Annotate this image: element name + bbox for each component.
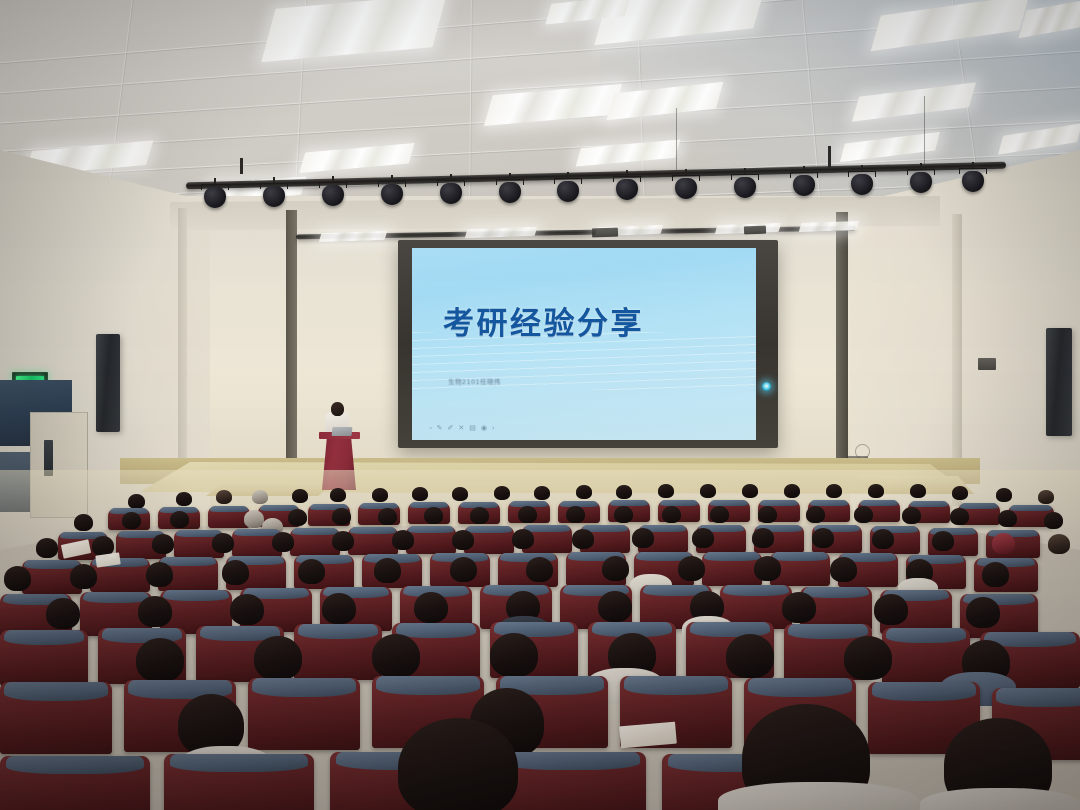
audience-head (452, 530, 474, 550)
audience-head (844, 636, 892, 680)
audience-head (758, 506, 777, 523)
audience-shoulder (920, 788, 1080, 810)
highlighter-icon[interactable]: ✐ (448, 425, 454, 432)
audience-head (176, 492, 192, 506)
screen-power-led (762, 382, 771, 391)
audience-head (152, 534, 174, 554)
audience-head (298, 559, 325, 584)
audience-head (726, 634, 774, 678)
audience-head (170, 511, 189, 528)
seat-foreground (164, 754, 314, 810)
seat (0, 630, 88, 686)
audience-head (966, 597, 1000, 628)
audience-head (602, 556, 629, 581)
slide-toolbar[interactable]: ▫ ✎ ✐ ✕ ▤ ◉ › (429, 425, 494, 432)
seat (348, 527, 398, 555)
seat (248, 678, 360, 750)
audience-head (526, 557, 553, 582)
seat (702, 552, 762, 586)
audience-head (138, 596, 172, 627)
audience-head (212, 533, 234, 553)
audience-head (806, 506, 825, 523)
audience-head (70, 564, 97, 589)
audience-head (614, 506, 633, 523)
audience-head (254, 636, 302, 680)
audience-head (566, 506, 585, 523)
audience-head (1048, 534, 1070, 554)
audience-head (1038, 490, 1054, 504)
audience-head (754, 556, 781, 581)
stage-fixture (744, 226, 766, 235)
audience-head (46, 598, 80, 629)
cursor-icon[interactable]: ▫ (429, 425, 431, 432)
audience-head (292, 489, 308, 503)
stage-pillar-right (836, 212, 848, 464)
laser-icon[interactable]: ◉ (481, 425, 487, 432)
audience-head (378, 508, 397, 525)
audience-head (146, 562, 173, 587)
audience-head (576, 485, 592, 499)
audience-head (982, 562, 1009, 587)
slide-subtitle: 生物2101任晓伟 (448, 376, 501, 386)
audience-head (932, 531, 954, 551)
projection-screen: 考研经验分享 生物2101任晓伟 ▫ ✎ ✐ ✕ ▤ ◉ › (412, 248, 756, 440)
audience-head (692, 528, 714, 548)
stage-pillar-left (286, 210, 297, 458)
more-icon[interactable]: › (492, 425, 494, 432)
audience-head (136, 638, 184, 682)
truss-support-wire (924, 96, 925, 166)
audience-head (658, 484, 674, 498)
audience-seating (0, 470, 1080, 810)
audience-head (494, 486, 510, 500)
audience-head (950, 508, 969, 525)
audience-head (452, 487, 468, 501)
audience-head (534, 486, 550, 500)
lecture-hall-photo: 考研经验分享 生物2101任晓伟 ▫ ✎ ✐ ✕ ▤ ◉ › (0, 0, 1080, 810)
audience-head (36, 538, 58, 558)
audience-head (632, 528, 654, 548)
audience-head (784, 484, 800, 498)
seat-foreground (496, 752, 646, 810)
truss-drop-rod (828, 146, 831, 168)
audience-head (1044, 512, 1063, 529)
audience-head (782, 592, 816, 623)
audience-head (616, 485, 632, 499)
audience-head (230, 594, 264, 625)
audience-head (518, 506, 537, 523)
audience-head (812, 528, 834, 548)
audience-head (854, 506, 873, 523)
audience-head (826, 484, 842, 498)
audience-head (662, 506, 681, 523)
wall-mounted-fixture (978, 358, 996, 370)
audience-head (252, 490, 268, 504)
audience-head (244, 510, 264, 528)
truss-drop-rod (240, 158, 243, 174)
audience-head (710, 506, 729, 523)
audience-head (122, 512, 141, 529)
wall-speaker-right (1046, 328, 1072, 436)
audience-head (598, 591, 632, 622)
audience-head (742, 484, 758, 498)
audience-head (700, 484, 716, 498)
audience-head (512, 529, 534, 549)
audience-head (288, 509, 307, 526)
audience-head (992, 533, 1015, 554)
audience-head (450, 557, 477, 582)
truss-support-wire (676, 108, 677, 172)
audience-head (222, 560, 249, 585)
presenter-laptop (332, 427, 353, 436)
audience-head (996, 488, 1012, 502)
audience-head (952, 486, 968, 500)
audience-head (372, 634, 420, 678)
audience-head (216, 490, 232, 504)
audience-head (424, 507, 443, 524)
audience-head (830, 557, 857, 582)
audience-head (414, 592, 448, 623)
audience-head (332, 508, 351, 525)
audience-shoulder (718, 782, 918, 810)
grid-icon[interactable]: ▤ (469, 425, 476, 432)
projection-screen-frame: 考研经验分享 生物2101任晓伟 ▫ ✎ ✐ ✕ ▤ ◉ › (398, 240, 778, 448)
audience-head (332, 531, 354, 551)
audience-head (490, 633, 538, 677)
audience-head (868, 484, 884, 498)
seat (0, 682, 112, 754)
pen-icon[interactable]: ✎ (437, 425, 443, 432)
audience-head (392, 530, 414, 550)
audience-head (572, 529, 594, 549)
audience-head (128, 494, 145, 509)
audience-head (374, 558, 401, 583)
audience-head (74, 514, 93, 531)
eraser-icon[interactable]: ✕ (458, 425, 464, 432)
audience-head (372, 488, 388, 502)
audience-head (910, 484, 926, 498)
audience-head (470, 507, 489, 524)
slide-title: 考研经验分享 (443, 298, 644, 343)
audience-head (872, 529, 894, 549)
seat-foreground (0, 756, 150, 810)
seat (294, 624, 382, 680)
audience-head (874, 594, 908, 625)
audience-head (752, 528, 774, 548)
presenter-head (331, 402, 344, 416)
audience-head (322, 593, 356, 624)
stage-projector (592, 228, 618, 238)
audience-head (412, 487, 428, 501)
audience-head (998, 510, 1017, 527)
audience-head (330, 488, 346, 502)
audience-head (678, 556, 705, 581)
audience-head (272, 532, 294, 552)
audience-head-nearest (398, 718, 518, 810)
audience-head (902, 507, 921, 524)
wall-speaker-left (96, 334, 120, 432)
audience-head (4, 566, 31, 591)
